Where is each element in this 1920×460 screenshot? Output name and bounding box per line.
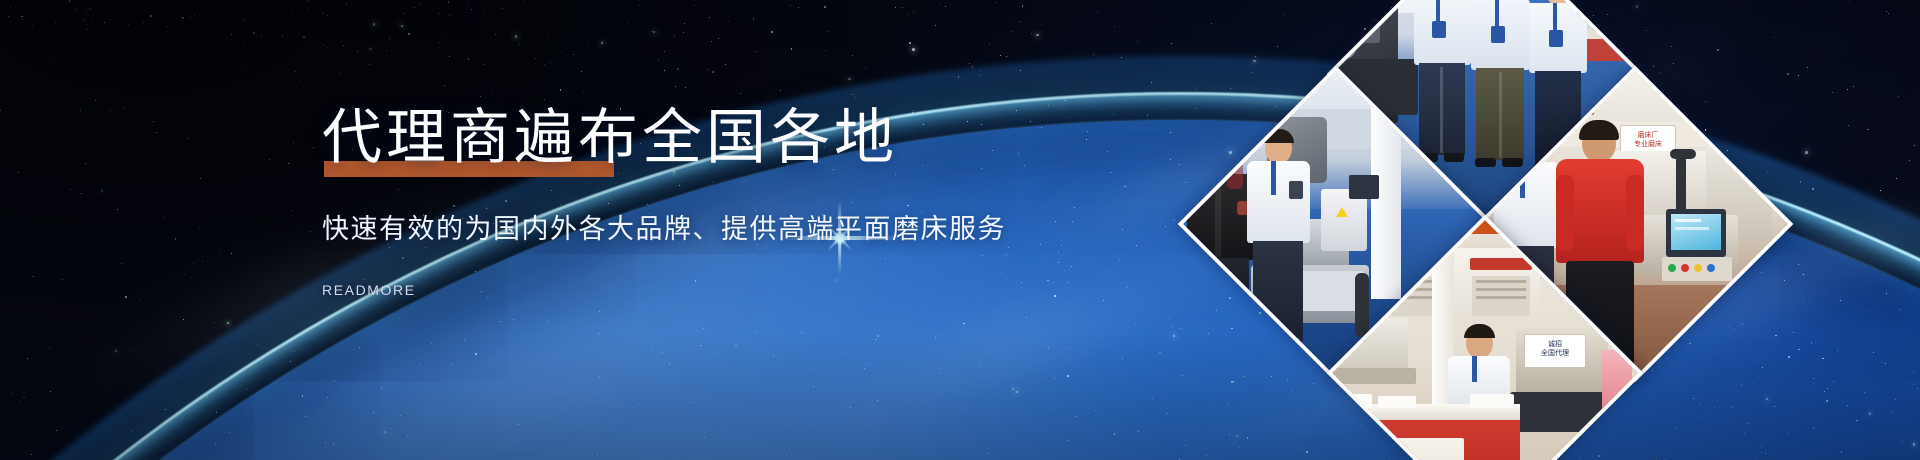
page-title: 代理商遍布全国各地 bbox=[322, 104, 898, 171]
hero-copy: 代理商遍布全国各地 快速有效的为国内外各大品牌、提供高端平面磨床服务 READM… bbox=[322, 104, 1022, 300]
diamond-photo-collage: 东莞市神田机械设备有限公司 bbox=[1265, 8, 1705, 456]
page-subtitle: 快速有效的为国内外各大品牌、提供高端平面磨床服务 bbox=[322, 207, 1022, 246]
page-title-text: 代理商遍布全国各地 bbox=[322, 104, 898, 171]
booth-sign-bottom-text: 诚招 全国代理 bbox=[1526, 340, 1584, 358]
readmore-link[interactable]: READMORE bbox=[322, 282, 416, 298]
hero-banner: 代理商遍布全国各地 快速有效的为国内外各大品牌、提供高端平面磨床服务 READM… bbox=[0, 0, 1920, 460]
